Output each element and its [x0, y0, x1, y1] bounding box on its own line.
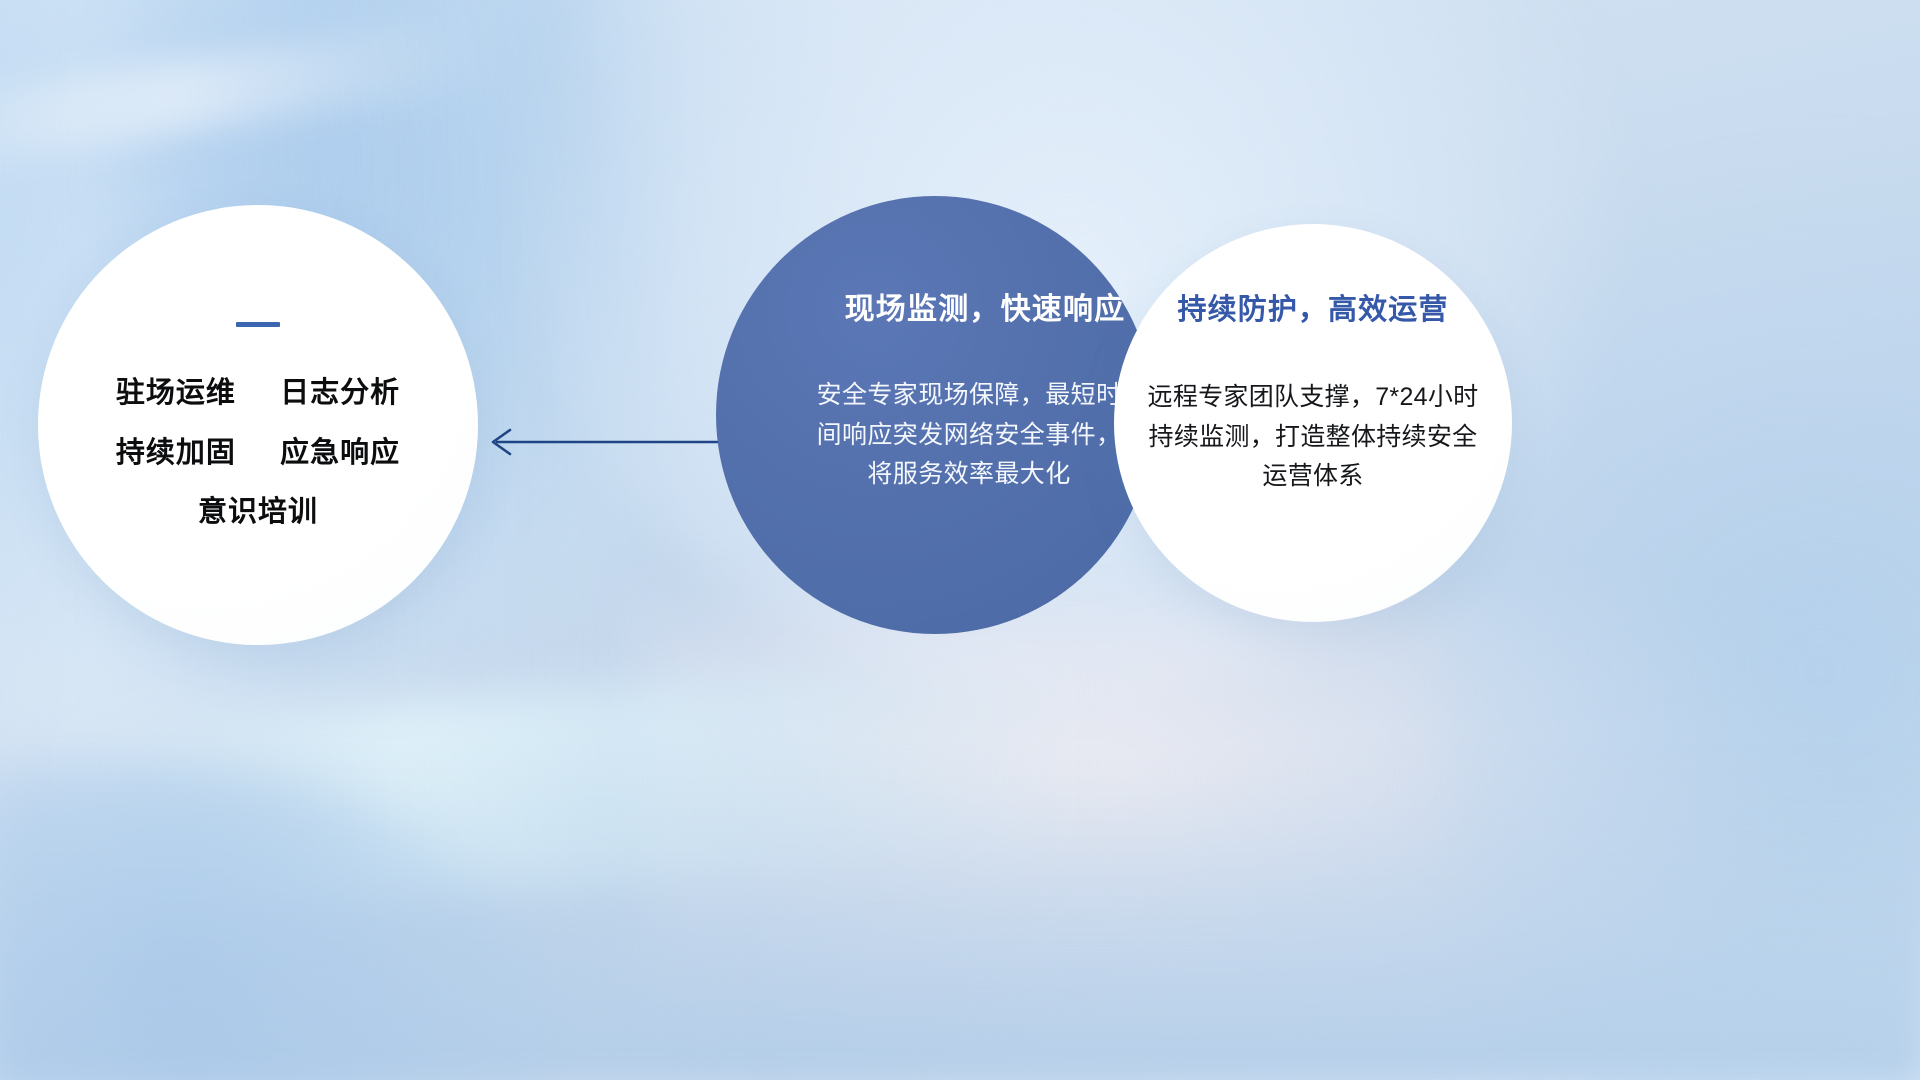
feature-body-middle: 安全专家现场保障，最短时间响应突发网络安全事件，将服务效率最大化: [804, 376, 1134, 495]
capability-tag: 意识培训: [198, 496, 318, 528]
capability-tag: 应急响应: [280, 437, 400, 469]
feature-title-middle: 现场监测，快速响应: [845, 284, 1126, 328]
capability-tag: 日志分析: [280, 377, 400, 409]
left-arrow-icon: [480, 410, 740, 474]
capability-row-1: 驻场运维 日志分析: [116, 379, 400, 409]
capability-tag: 驻场运维: [116, 377, 236, 409]
feature-circle-middle-content: 现场监测，快速响应 安全专家现场保障，最短时间响应突发网络安全事件，将服务效率最…: [716, 196, 1154, 634]
feature-body-right: 远程专家团队支撑，7*24小时持续监测，打造整体持续安全运营体系: [1137, 378, 1489, 497]
connector-arrow: [480, 410, 740, 474]
capability-tag: 持续加固: [116, 437, 236, 469]
divider-dash: [236, 322, 280, 327]
capability-row-2: 持续加固 应急响应: [116, 439, 400, 469]
feature-title-right: 持续防护，高效运营: [1178, 286, 1449, 328]
background-bottom-band: [0, 750, 1920, 1080]
feature-circle-middle[interactable]: 现场监测，快速响应 安全专家现场保障，最短时间响应突发网络安全事件，将服务效率最…: [716, 196, 1154, 634]
feature-circle-right[interactable]: 持续防护，高效运营 远程专家团队支撑，7*24小时持续监测，打造整体持续安全运营…: [1114, 224, 1512, 622]
capability-row-3: 意识培训: [198, 498, 318, 528]
capability-circle-left[interactable]: 驻场运维 日志分析 持续加固 应急响应 意识培训: [38, 205, 478, 645]
